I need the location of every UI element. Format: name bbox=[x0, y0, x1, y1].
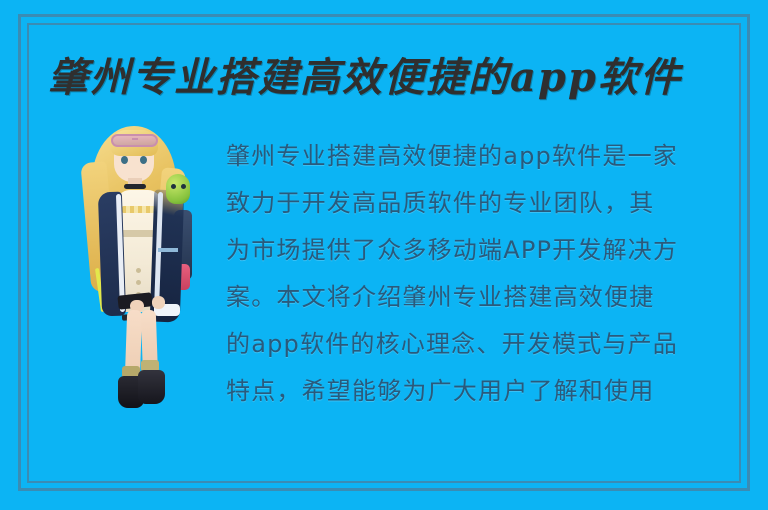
body-line: 案。本文将介绍肇州专业搭建高效便捷 bbox=[226, 274, 746, 321]
anime-girl-illustration bbox=[78, 118, 202, 416]
sleeve-stripe bbox=[158, 248, 178, 252]
choker bbox=[124, 184, 146, 189]
eye-right bbox=[140, 156, 147, 164]
body-line: 特点，希望能够为广大用户了解和使用 bbox=[226, 368, 746, 415]
plush-eye-right bbox=[181, 184, 186, 189]
page-title: 肇州专业搭建高效便捷的app软件 bbox=[48, 58, 708, 98]
body-line: 的app软件的核心理念、开发模式与产品 bbox=[226, 321, 746, 368]
poster-canvas: 肇州专业搭建高效便捷的app软件 bbox=[0, 0, 768, 510]
body-line: 致力于开发高品质软件的专业团队，其 bbox=[226, 180, 746, 227]
green-plush-charm bbox=[166, 174, 190, 204]
dress-gold-trim bbox=[122, 206, 156, 213]
eye-left bbox=[121, 156, 128, 164]
body-paragraph: 肇州专业搭建高效便捷的app软件是一家 致力于开发高品质软件的专业团队，其 为市… bbox=[226, 133, 746, 415]
body-line: 为市场提供了众多移动端APP开发解决方 bbox=[226, 227, 746, 274]
sunglasses-icon bbox=[111, 134, 158, 147]
boot-right bbox=[138, 370, 165, 404]
body-line: 肇州专业搭建高效便捷的app软件是一家 bbox=[226, 133, 746, 180]
hand-right bbox=[152, 296, 165, 309]
dress-button bbox=[136, 280, 141, 285]
sunglasses-bridge bbox=[132, 138, 138, 140]
dress-button bbox=[136, 268, 141, 273]
plush-eye-left bbox=[171, 184, 176, 189]
